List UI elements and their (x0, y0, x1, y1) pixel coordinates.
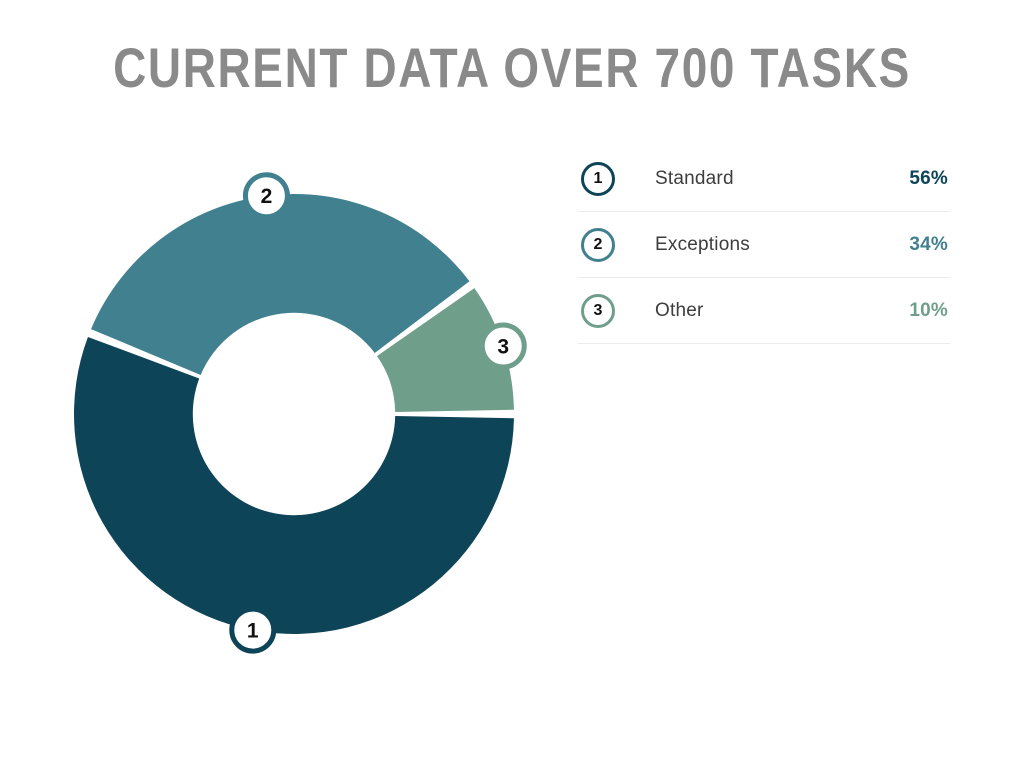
legend-label: Standard (655, 168, 909, 190)
legend-value: 56% (909, 168, 950, 190)
legend-label: Other (655, 300, 909, 322)
legend-row-standard[interactable]: 1Standard56% (578, 146, 950, 212)
chart-legend: 1Standard56%2Exceptions34%3Other10% (578, 146, 950, 344)
legend-value: 10% (909, 300, 950, 322)
legend-row-exceptions[interactable]: 2Exceptions34% (578, 212, 950, 278)
donut-marker-label: 2 (261, 185, 273, 208)
legend-index-badge: 1 (581, 162, 615, 196)
donut-marker-3[interactable]: 3 (482, 325, 524, 367)
legend-row-other[interactable]: 3Other10% (578, 278, 950, 344)
donut-slice-layer (74, 194, 514, 634)
donut-marker-label: 3 (497, 336, 509, 359)
slide-canvas: CURRENT DATA OVER 700 TASKS 123 1Standar… (0, 0, 1024, 768)
legend-label: Exceptions (655, 234, 909, 256)
page-title: CURRENT DATA OVER 700 TASKS (92, 34, 932, 102)
legend-index-badge: 3 (581, 294, 615, 328)
legend-index-badge: 2 (581, 228, 615, 262)
legend-value: 34% (909, 234, 950, 256)
donut-chart: 123 (64, 184, 534, 654)
donut-marker-1[interactable]: 1 (232, 609, 274, 651)
donut-marker-2[interactable]: 2 (245, 175, 287, 217)
donut-svg: 123 (64, 184, 534, 654)
donut-marker-label: 1 (247, 620, 259, 643)
